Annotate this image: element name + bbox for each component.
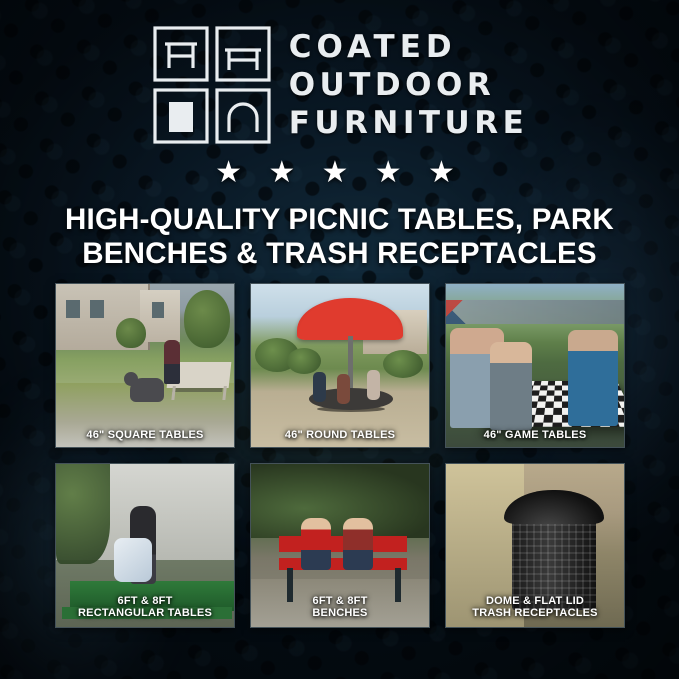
product-caption-line-1: DOME & FLAT LID (449, 595, 621, 607)
brand-name-line-2: OUTDOOR (289, 66, 529, 104)
product-caption-line-1: 6FT & 8FT (254, 595, 426, 607)
brand-name-line-3: FURNITURE (289, 104, 529, 142)
star-rating: ★ ★ ★ ★ ★ (0, 158, 679, 188)
product-caption: 46" GAME TABLES (446, 425, 624, 447)
product-caption: DOME & FLAT LID TRASH RECEPTACLES (446, 591, 624, 625)
product-caption: 46" SQUARE TABLES (56, 425, 234, 447)
product-tile-trash-receptacles[interactable]: DOME & FLAT LID TRASH RECEPTACLES (445, 463, 625, 628)
product-tile-game-tables[interactable]: 46" GAME TABLES (445, 283, 625, 448)
product-caption-line-2: BENCHES (254, 607, 426, 619)
round-tables-photo (251, 284, 429, 447)
product-grid: 46" SQUARE TABLES 46" ROUND TABLES (55, 283, 625, 628)
headline-line-1: HIGH-QUALITY PICNIC TABLES, PARK (30, 203, 649, 237)
brand-wordmark: COATED OUTDOOR FURNITURE (289, 24, 529, 142)
brand-name-line-1: COATED (289, 28, 529, 66)
coated-outdoor-furniture-logo-icon (151, 24, 273, 146)
game-tables-photo (446, 284, 624, 447)
product-caption: 6FT & 8FT BENCHES (251, 591, 429, 625)
brand-logo: COATED OUTDOOR FURNITURE (0, 24, 679, 146)
product-tile-benches[interactable]: 6FT & 8FT BENCHES (250, 463, 430, 628)
product-caption: 6FT & 8FT RECTANGULAR TABLES (56, 591, 234, 625)
headline-line-2: BENCHES & TRASH RECEPTACLES (30, 237, 649, 271)
product-tile-square-tables[interactable]: 46" SQUARE TABLES (55, 283, 235, 448)
product-caption: 46" ROUND TABLES (251, 425, 429, 447)
advertisement-image: COATED OUTDOOR FURNITURE ★ ★ ★ ★ ★ HIGH-… (0, 0, 679, 679)
product-caption-line-1: 6FT & 8FT (59, 595, 231, 607)
product-caption-line-2: TRASH RECEPTACLES (449, 607, 621, 619)
square-tables-photo (56, 284, 234, 447)
product-caption-line-2: RECTANGULAR TABLES (59, 607, 231, 619)
headline: HIGH-QUALITY PICNIC TABLES, PARK BENCHES… (30, 203, 649, 271)
product-tile-rectangular-tables[interactable]: 6FT & 8FT RECTANGULAR TABLES (55, 463, 235, 628)
product-tile-round-tables[interactable]: 46" ROUND TABLES (250, 283, 430, 448)
ad-content: COATED OUTDOOR FURNITURE ★ ★ ★ ★ ★ HIGH-… (0, 0, 679, 679)
